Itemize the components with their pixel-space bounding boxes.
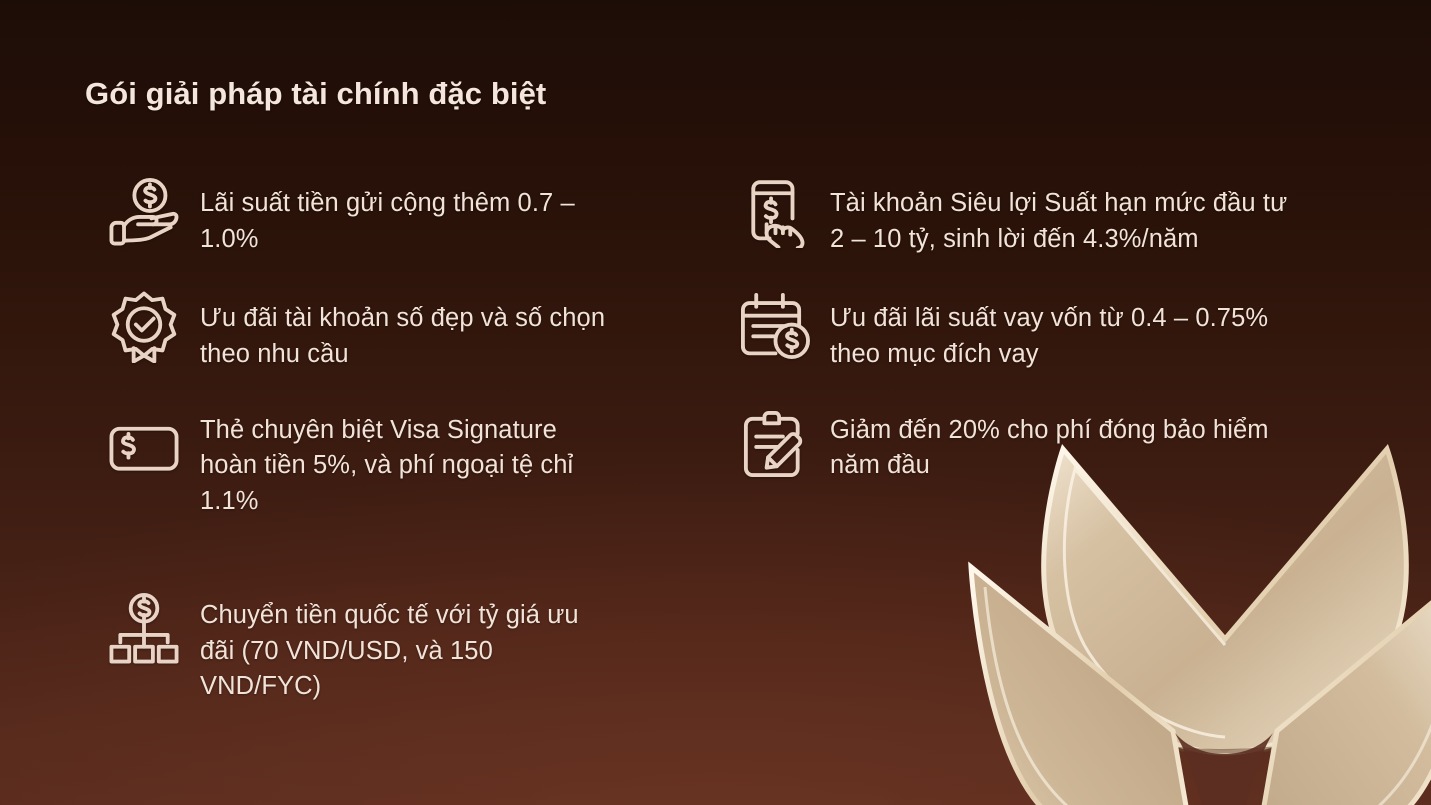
feature-text: Chuyển tiền quốc tế với tỷ giá ưu đãi (7… bbox=[200, 568, 620, 705]
feature-text: Ưu đãi lãi suất vay vốn từ 0.4 – 0.75% t… bbox=[830, 287, 1308, 372]
feature-text: Ưu đãi tài khoản số đẹp và số chọn theo … bbox=[200, 287, 620, 372]
calendar-dollar-icon bbox=[718, 287, 830, 363]
feature-text: Giảm đến 20% cho phí đóng bảo hiểm năm đ… bbox=[830, 399, 1308, 484]
feature-item-visa-signature: Thẻ chuyên biệt Visa Signature hoàn tiền… bbox=[88, 399, 678, 520]
badge-check-icon bbox=[88, 287, 200, 363]
feature-text: Lãi suất tiền gửi cộng thêm 0.7 – 1.0% bbox=[200, 172, 620, 257]
gold-petal-logo-mark bbox=[963, 431, 1431, 805]
feature-item-deposit-rate: Lãi suất tiền gửi cộng thêm 0.7 – 1.0% bbox=[88, 172, 678, 257]
money-transfer-network-icon bbox=[88, 568, 200, 666]
feature-item-insurance-discount: Giảm đến 20% cho phí đóng bảo hiểm năm đ… bbox=[718, 399, 1308, 484]
clipboard-pencil-icon bbox=[718, 399, 830, 481]
feature-text: Tài khoản Siêu lợi Suất hạn mức đầu tư 2… bbox=[830, 172, 1308, 257]
features-column-left: Lãi suất tiền gửi cộng thêm 0.7 – 1.0% Ư… bbox=[88, 172, 678, 705]
feature-item-international-transfer: Chuyển tiền quốc tế với tỷ giá ưu đãi (7… bbox=[88, 568, 678, 705]
hand-holding-coin-icon bbox=[88, 172, 200, 248]
feature-text: Thẻ chuyên biệt Visa Signature hoàn tiền… bbox=[200, 399, 620, 520]
feature-item-account-number: Ưu đãi tài khoản số đẹp và số chọn theo … bbox=[88, 287, 678, 372]
mobile-banking-tap-icon bbox=[718, 172, 830, 248]
page-title: Gói giải pháp tài chính đặc biệt bbox=[85, 76, 546, 112]
payment-card-dollar-icon bbox=[88, 399, 200, 485]
feature-item-loan-rate: Ưu đãi lãi suất vay vốn từ 0.4 – 0.75% t… bbox=[718, 287, 1308, 372]
features-column-right: Tài khoản Siêu lợi Suất hạn mức đầu tư 2… bbox=[718, 172, 1308, 484]
feature-item-super-yield-account: Tài khoản Siêu lợi Suất hạn mức đầu tư 2… bbox=[718, 172, 1308, 257]
slide-canvas: Gói giải pháp tài chính đặc biệt Lãi suấ… bbox=[0, 0, 1431, 805]
